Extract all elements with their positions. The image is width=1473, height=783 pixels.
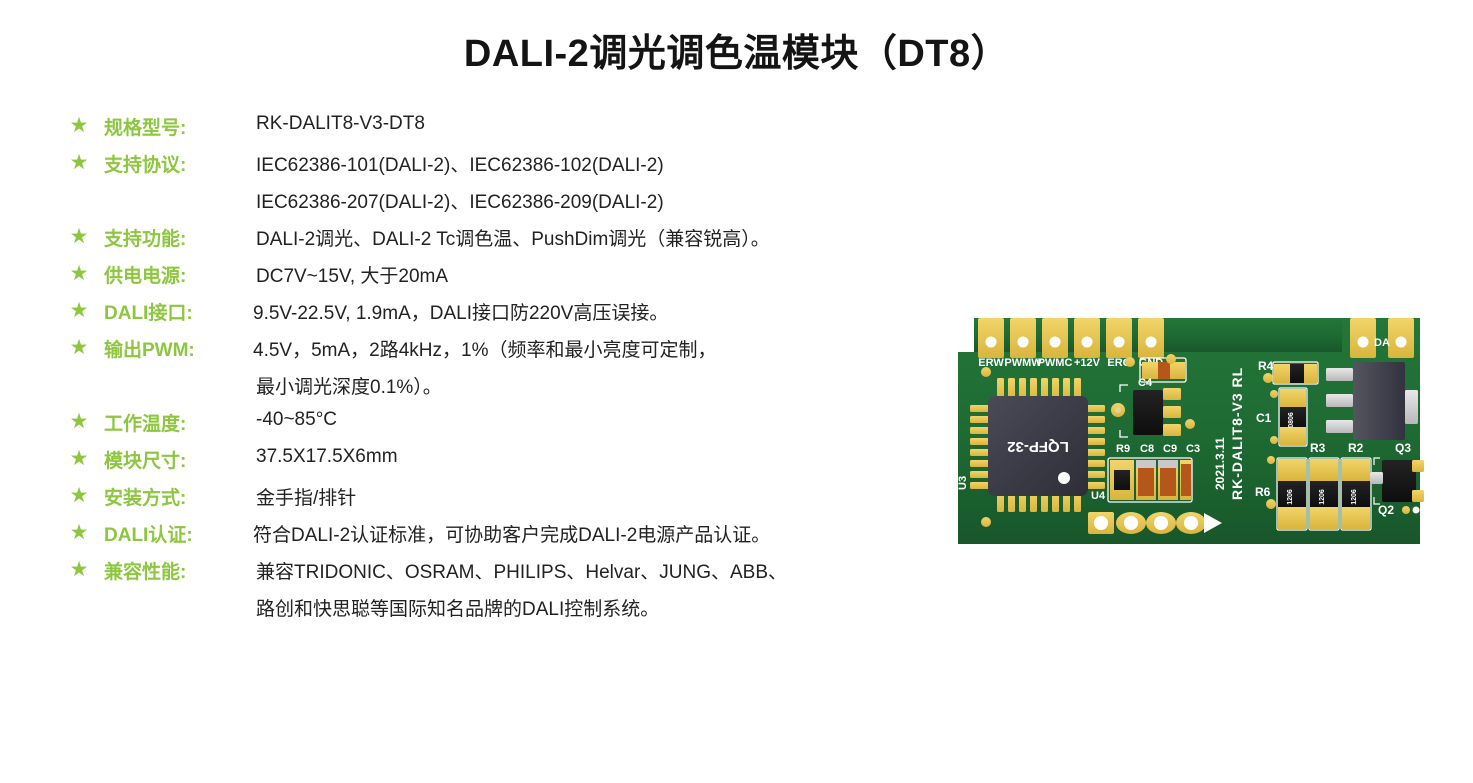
star-icon: ★ — [68, 559, 90, 581]
spec-label: 支持功能: — [104, 224, 186, 251]
spec-value: 4.5V，5mA，2路4kHz，1%（频率和最小亮度可定制， — [253, 335, 716, 362]
resistor-code: 1206 — [1351, 489, 1358, 505]
resistor-code: 1206 — [1287, 489, 1294, 505]
spec-row-model: ★ 规格型号: RK-DALIT8-V3-DT8 — [68, 112, 968, 149]
spec-label: 供电电源: — [104, 261, 186, 288]
spec-row-functions: ★ 支持功能: DALI-2调光、DALI-2 Tc调色温、PushDim调光（… — [68, 223, 968, 260]
spec-value: DC7V~15V, 大于20mA — [256, 261, 448, 288]
spec-value: -40~85°C — [256, 409, 337, 431]
spec-label: 输出PWM: — [104, 335, 195, 362]
refdes-c9: C9 — [1163, 443, 1177, 455]
spec-value: 37.5X17.5X6mm — [256, 446, 398, 468]
spec-row-compatibility-line2: 路创和快思聪等国际知名品牌的DALI控制系统。 — [68, 593, 968, 630]
pin-label-pwmw: PWMW — [1004, 357, 1042, 369]
pcb-product-image: ERW PWMW PWMC +12V ERC GND DA — [950, 300, 1430, 550]
refdes-c8: C8 — [1140, 443, 1154, 455]
spec-label: 兼容性能: — [104, 557, 186, 584]
refdes-q3: Q3 — [1395, 441, 1411, 455]
spec-value-continued: 路创和快思聪等国际知名品牌的DALI控制系统。 — [256, 594, 659, 621]
pin-label-erw: ERW — [978, 357, 1004, 369]
spec-label: 工作温度: — [104, 409, 186, 436]
board-silk-text: RK-DALIT8-V3 RL — [1229, 367, 1245, 500]
board-date-text: 2021.3.11 — [1213, 437, 1227, 490]
resistor-code: 1206 — [1319, 489, 1326, 505]
pin-label-12v: +12V — [1074, 357, 1101, 369]
spec-value: DALI-2调光、DALI-2 Tc调色温、PushDim调光（兼容锐高）。 — [256, 224, 770, 251]
spec-row-output-pwm-line2: 最小调光深度0.1%）。 — [68, 371, 968, 408]
spec-value: 9.5V-22.5V, 1.9mA，DALI接口防220V高压误接。 — [253, 298, 668, 325]
spec-label: 支持协议: — [104, 150, 186, 177]
star-icon: ★ — [68, 152, 90, 174]
spec-value: IEC62386-101(DALI-2)、IEC62386-102(DALI-2… — [256, 150, 664, 177]
spec-label: DALI认证: — [104, 520, 193, 547]
pcb-illustration: ERW PWMW PWMC +12V ERC GND DA — [950, 300, 1430, 550]
refdes-u3: U3 — [957, 476, 969, 490]
star-icon: ★ — [68, 263, 90, 285]
star-icon: ★ — [68, 411, 90, 433]
refdes-r2: R2 — [1348, 441, 1364, 455]
pad-label-da: DA — [1374, 337, 1390, 349]
spec-label: DALI接口: — [104, 298, 193, 325]
refdes-q2: Q2 — [1378, 503, 1394, 517]
spec-row-protocol: ★ 支持协议: IEC62386-101(DALI-2)、IEC62386-10… — [68, 149, 968, 186]
spec-label: 模块尺寸: — [104, 446, 186, 473]
component-q2 — [1382, 460, 1416, 502]
refdes-r6: R6 — [1255, 485, 1271, 499]
pin-label-pwmc: PWMC — [1038, 357, 1073, 369]
spec-value-continued: IEC62386-207(DALI-2)、IEC62386-209(DALI-2… — [256, 187, 664, 214]
refdes-r9: R9 — [1116, 443, 1130, 455]
spec-label: 规格型号: — [104, 113, 186, 140]
refdes-u4: U4 — [1091, 490, 1106, 502]
star-icon: ★ — [68, 485, 90, 507]
page-title: DALI-2调光调色温模块（DT8） — [0, 22, 1473, 77]
spec-value: 金手指/排针 — [256, 483, 356, 510]
component-q3 — [1353, 362, 1405, 440]
refdes-r3: R3 — [1310, 441, 1326, 455]
chip-pin1-dot — [1058, 472, 1070, 484]
star-icon: ★ — [68, 300, 90, 322]
resistor-code: 0806 — [1288, 412, 1295, 428]
chip-label-lqfp32: LQFP-32 — [1007, 438, 1069, 455]
spec-value-continued: 最小调光深度0.1%）。 — [256, 372, 442, 399]
spec-row-dali-certification: ★ DALI认证: 符合DALI-2认证标准，可协助客户完成DALI-2电源产品… — [68, 519, 968, 556]
star-icon: ★ — [68, 448, 90, 470]
spec-row-operating-temperature: ★ 工作温度: -40~85°C — [68, 408, 968, 445]
refdes-r4: R4 — [1258, 359, 1274, 373]
product-spec-page: DALI-2调光调色温模块（DT8） ★ 规格型号: RK-DALIT8-V3-… — [0, 0, 1473, 783]
refdes-c1: C1 — [1256, 411, 1272, 425]
spec-label: 安装方式: — [104, 483, 186, 510]
refdes-c3: C3 — [1186, 443, 1200, 455]
spec-row-output-pwm: ★ 输出PWM: 4.5V，5mA，2路4kHz，1%（频率和最小亮度可定制， — [68, 334, 968, 371]
spec-value: 符合DALI-2认证标准，可协助客户完成DALI-2电源产品认证。 — [253, 520, 770, 547]
star-icon: ★ — [68, 115, 90, 137]
spec-row-compatibility: ★ 兼容性能: 兼容TRIDONIC、OSRAM、PHILIPS、Helvar、… — [68, 556, 968, 593]
spec-row-dali-interface: ★ DALI接口: 9.5V-22.5V, 1.9mA，DALI接口防220V高… — [68, 297, 968, 334]
star-icon: ★ — [68, 337, 90, 359]
star-icon: ★ — [68, 522, 90, 544]
star-icon: ★ — [68, 226, 90, 248]
spec-list: ★ 规格型号: RK-DALIT8-V3-DT8 ★ 支持协议: IEC6238… — [68, 112, 968, 630]
spec-row-protocol-line2: IEC62386-207(DALI-2)、IEC62386-209(DALI-2… — [68, 186, 968, 223]
spec-value: RK-DALIT8-V3-DT8 — [256, 113, 425, 135]
lqfp32-chip: LQFP-32 — [970, 378, 1105, 512]
spec-row-module-size: ★ 模块尺寸: 37.5X17.5X6mm — [68, 445, 968, 482]
voltage-regulator — [1133, 390, 1163, 435]
spec-row-mounting: ★ 安装方式: 金手指/排针 — [68, 482, 968, 519]
resistor-array-1206: 1206 1206 1206 — [1277, 458, 1371, 530]
spec-row-power-supply: ★ 供电电源: DC7V~15V, 大于20mA — [68, 260, 968, 297]
spec-value: 兼容TRIDONIC、OSRAM、PHILIPS、Helvar、JUNG、ABB… — [256, 557, 787, 584]
refdes-c4: C4 — [1138, 377, 1153, 389]
